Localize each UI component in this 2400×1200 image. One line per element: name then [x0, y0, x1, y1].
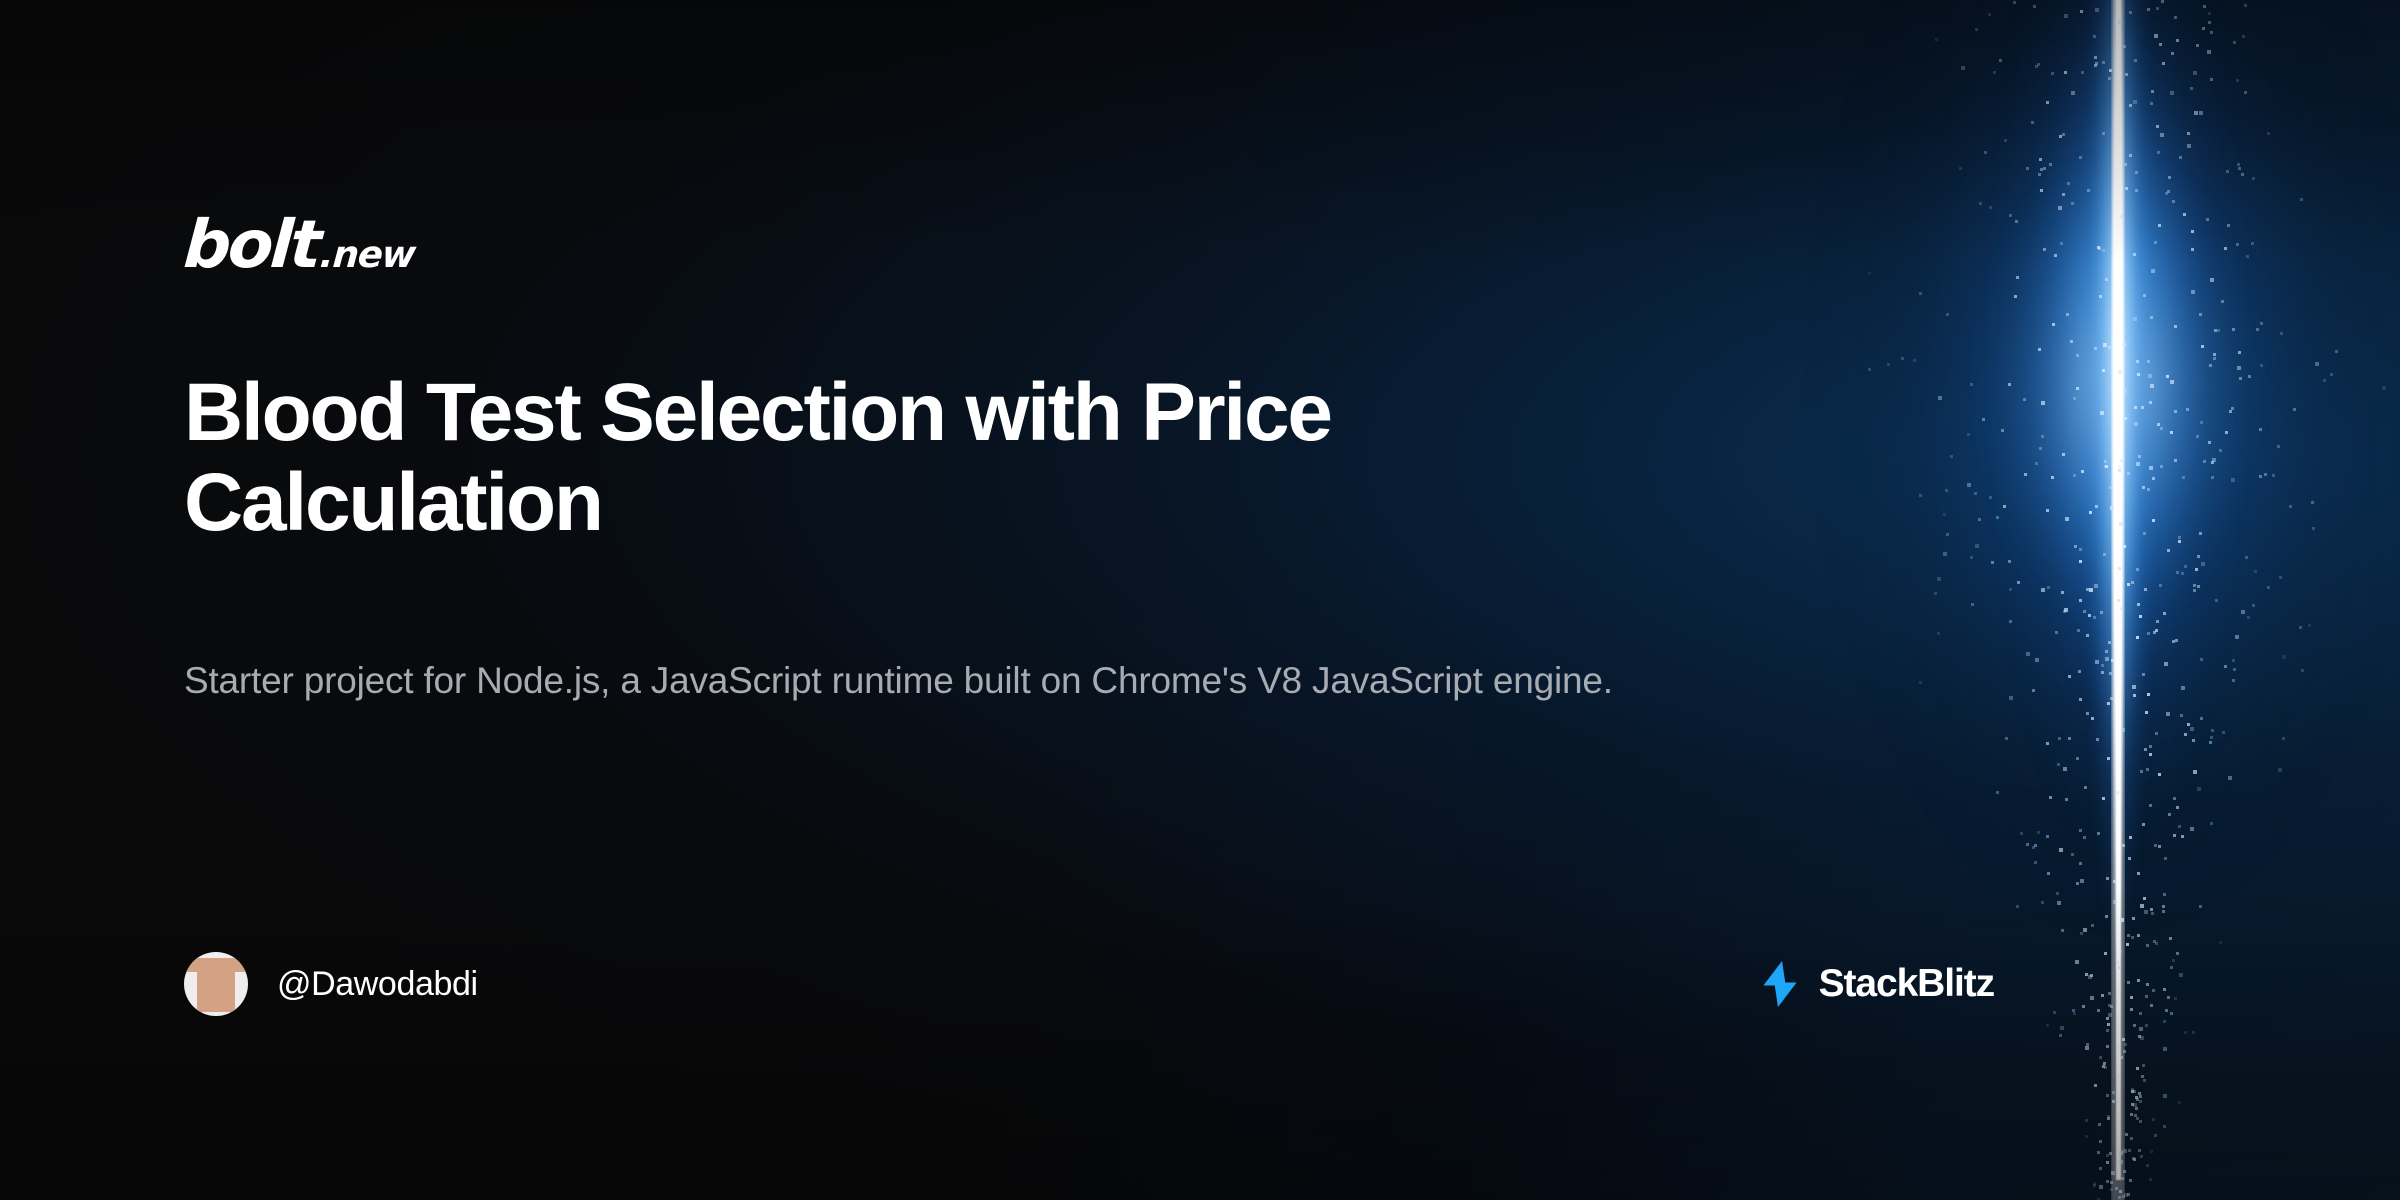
logo-wordmark: bolt	[182, 212, 321, 278]
avatar-block-notch	[210, 978, 223, 992]
stackblitz-branding[interactable]: StackBlitz	[1763, 961, 1994, 1007]
author-row[interactable]: @Dawodabdi	[184, 952, 478, 1016]
card-footer: @Dawodabdi StackBlitz	[184, 952, 1994, 1016]
avatar	[184, 952, 248, 1016]
og-preview-card: bolt .new Blood Test Selection with Pric…	[0, 0, 2400, 1200]
stackblitz-label: StackBlitz	[1819, 962, 1994, 1006]
logo-suffix: .new	[318, 236, 415, 273]
project-description: Starter project for Node.js, a JavaScrip…	[184, 655, 1804, 708]
bolt-new-logo[interactable]: bolt .new	[184, 212, 415, 278]
page-title: Blood Test Selection with Price Calculat…	[184, 368, 1604, 548]
lightning-bolt-icon	[1763, 961, 1797, 1007]
author-handle: @Dawodabdi	[277, 965, 478, 1004]
card-content: bolt .new Blood Test Selection with Pric…	[184, 0, 1684, 1200]
